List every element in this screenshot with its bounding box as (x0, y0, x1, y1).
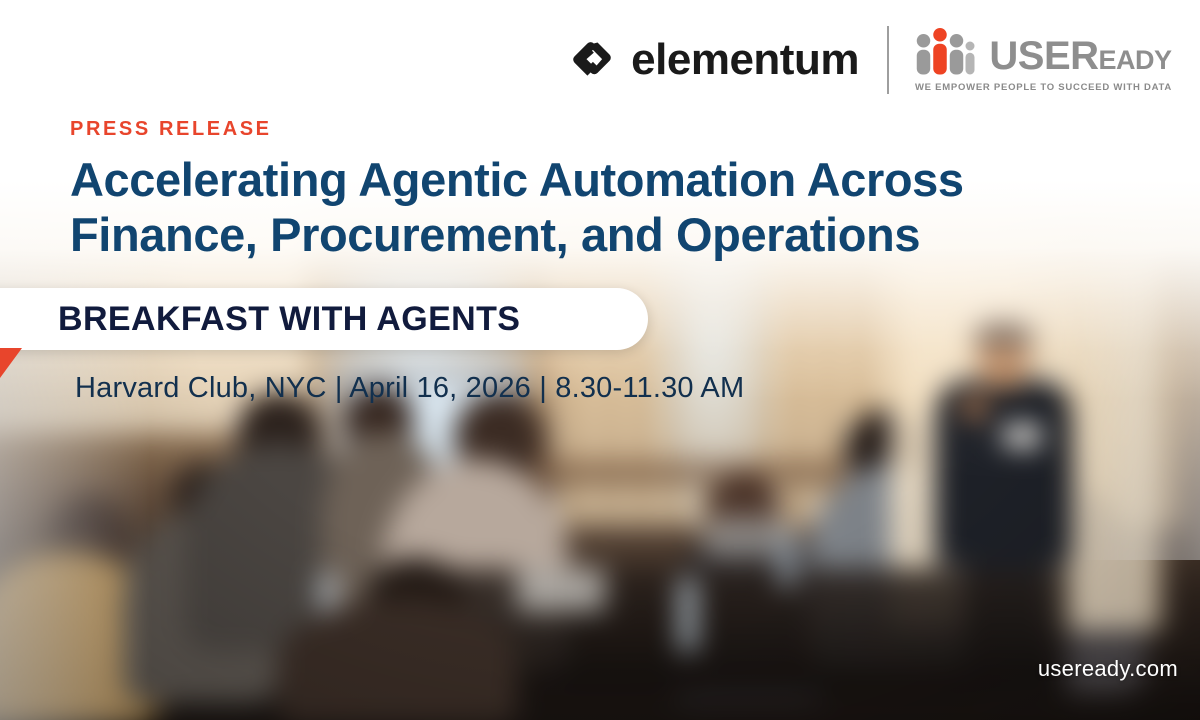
page-title: Accelerating Agentic Automation Across F… (70, 152, 1160, 263)
useready-people-icon (915, 28, 977, 76)
elementum-e-mark-icon (569, 37, 615, 83)
event-name-label: BREAKFAST WITH AGENTS (58, 300, 520, 339)
useready-word-main: USER (989, 34, 1098, 78)
event-photo-background (0, 0, 1200, 720)
elementum-wordmark: elementum (631, 38, 859, 82)
useready-row: USEREADY (915, 28, 1171, 76)
elementum-logo: elementum (569, 37, 885, 83)
event-name-banner: BREAKFAST WITH AGENTS (0, 288, 648, 350)
headline-line-2: Finance, Procurement, and Operations (70, 207, 1160, 262)
logo-bar: elementum USEREADY WE EMPOWER PEOPLE TO … (569, 26, 1172, 94)
website-url: useready.com (1038, 656, 1178, 682)
useready-wordmark: USEREADY (989, 36, 1171, 76)
logo-divider (887, 26, 889, 94)
press-release-eyebrow: PRESS RELEASE (70, 118, 272, 141)
banner-ribbon-tab-icon (0, 348, 22, 378)
useready-tagline: WE EMPOWER PEOPLE TO SUCCEED WITH DATA (915, 82, 1172, 93)
event-details: Harvard Club, NYC | April 16, 2026 | 8.3… (75, 372, 744, 405)
useready-word-rest: EADY (1099, 45, 1172, 75)
headline-line-1: Accelerating Agentic Automation Across (70, 153, 964, 206)
poster-canvas: elementum USEREADY WE EMPOWER PEOPLE TO … (0, 0, 1200, 720)
useready-logo: USEREADY WE EMPOWER PEOPLE TO SUCCEED WI… (891, 28, 1172, 93)
